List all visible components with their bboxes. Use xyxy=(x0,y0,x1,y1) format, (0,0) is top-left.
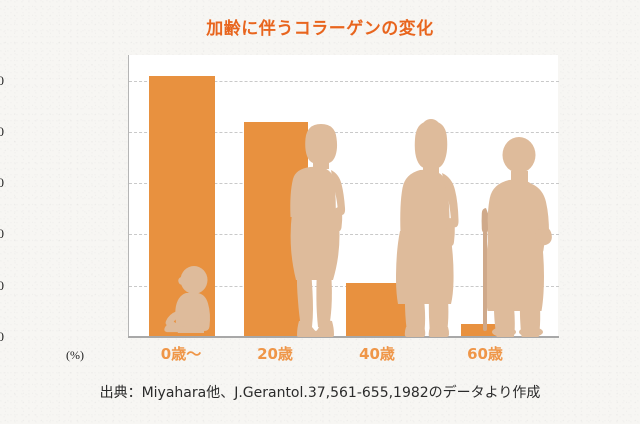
y-tick-label-80: 80 xyxy=(0,124,4,140)
plot-area xyxy=(128,55,558,337)
y-tick-label-60: 60 xyxy=(0,175,4,191)
y-tick-label-100: 100 xyxy=(0,73,4,89)
chart-title: 加齢に伴うコラーゲンの変化 xyxy=(0,14,640,39)
bar-40歳 xyxy=(346,283,411,337)
y-tick-label-40: 40 xyxy=(0,226,4,242)
x-axis-baseline xyxy=(128,336,559,338)
chart-canvas: 加齢に伴うコラーゲンの変化 020406080100 (%) 0歳〜20歳40歳… xyxy=(0,0,640,424)
source-note: 出典：Miyahara他、J.Gerantol.37,561-655,1982の… xyxy=(0,382,640,402)
y-tick-label-0: 0 xyxy=(0,329,4,345)
y-axis-unit-label: (%) xyxy=(66,348,84,363)
bar-0歳〜 xyxy=(149,76,215,337)
bar-20歳 xyxy=(244,122,308,337)
y-tick-label-20: 20 xyxy=(0,278,4,294)
x-axis-label-0: 0歳〜 xyxy=(131,343,231,364)
x-axis-label-1: 20歳 xyxy=(225,343,325,364)
x-axis-label-2: 40歳 xyxy=(327,343,427,364)
x-axis-label-3: 60歳 xyxy=(435,343,535,364)
